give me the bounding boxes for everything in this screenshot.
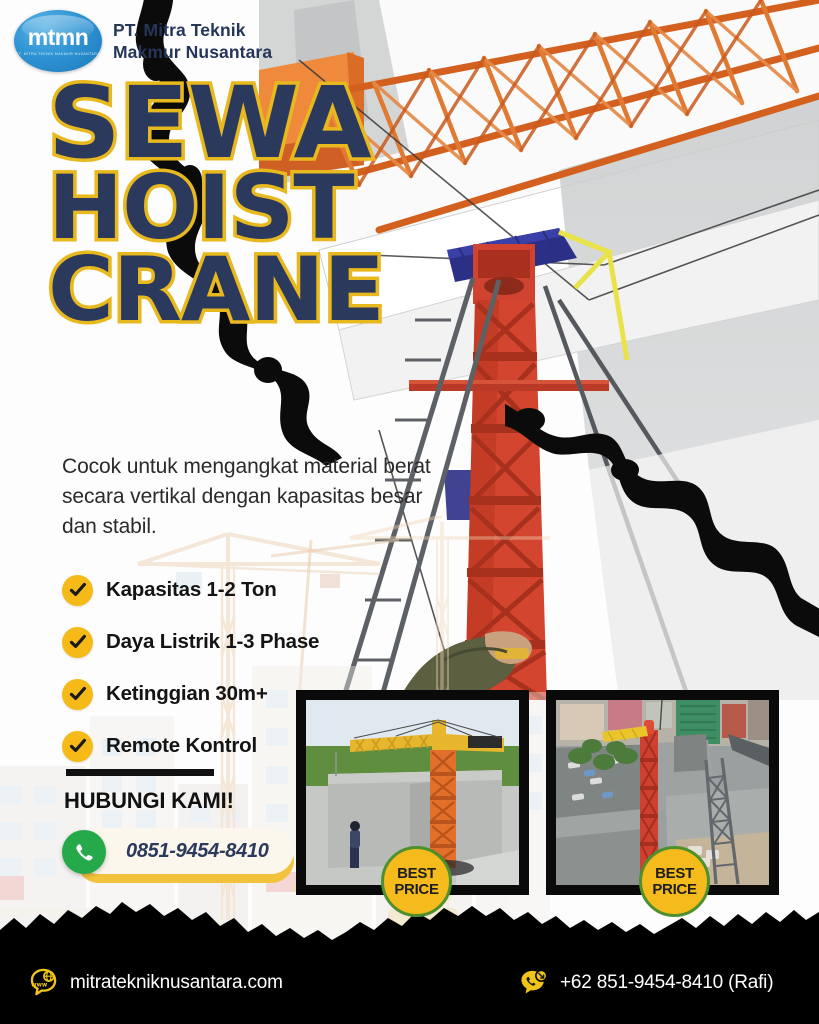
- title-line-3: CRANE: [48, 253, 384, 327]
- feature-label: Daya Listrik 1-3 Phase: [106, 630, 319, 654]
- cta-heading: HUBUNGI KAMI!: [64, 788, 234, 814]
- best-price-badge: BEST PRICE: [381, 846, 452, 917]
- footer-website[interactable]: www mitratekniknusantara.com: [30, 968, 283, 997]
- description-text: Cocok untuk mengangkat material berat se…: [62, 452, 432, 541]
- check-icon: [62, 575, 93, 606]
- check-icon: [62, 731, 93, 762]
- badge-line-1: BEST: [655, 866, 694, 881]
- badge-line-1: BEST: [397, 866, 436, 881]
- best-price-badge: BEST PRICE: [639, 846, 710, 917]
- logo-subtext: PT. MITRA TEKNIK MAKMUR NUSANTARA: [16, 52, 100, 56]
- feature-list: Kapasitas 1-2 Ton Daya Listrik 1-3 Phase…: [62, 568, 319, 776]
- footer-website-text: mitratekniknusantara.com: [70, 972, 283, 994]
- www-bubble-icon: www: [30, 968, 59, 997]
- divider-rule: [66, 769, 214, 776]
- poster-canvas: mtmn PT. MITRA TEKNIK MAKMUR NUSANTARA P…: [0, 0, 819, 1024]
- company-name-line2: Makmur Nusantara: [113, 41, 272, 63]
- feature-item: Daya Listrik 1-3 Phase: [62, 620, 319, 664]
- feature-label: Kapasitas 1-2 Ton: [106, 578, 277, 602]
- title-line-2: HOIST: [48, 171, 384, 245]
- footer-bar: www mitratekniknusantara.com +62 851-945…: [0, 946, 819, 1024]
- brand-header: mtmn PT. MITRA TEKNIK MAKMUR NUSANTARA P…: [14, 10, 272, 72]
- feature-label: Remote Kontrol: [106, 734, 257, 758]
- badge-line-2: PRICE: [652, 882, 696, 897]
- check-icon: [62, 627, 93, 658]
- feature-label: Ketinggian 30m+: [106, 682, 268, 706]
- phone-bubble-icon: [520, 968, 549, 997]
- badge-line-2: PRICE: [394, 882, 438, 897]
- company-logo: mtmn PT. MITRA TEKNIK MAKMUR NUSANTARA: [14, 10, 102, 72]
- feature-item: Ketinggian 30m+: [62, 672, 319, 716]
- check-icon: [62, 679, 93, 710]
- feature-item: Remote Kontrol: [62, 724, 319, 768]
- title-line-1: SEWA: [48, 82, 384, 165]
- company-name: PT. Mitra Teknik Makmur Nusantara: [113, 19, 272, 64]
- phone-number: 0851-9454-8410: [126, 840, 269, 863]
- phone-pill[interactable]: 0851-9454-8410: [76, 828, 294, 874]
- whatsapp-phone-icon[interactable]: [62, 830, 106, 874]
- feature-item: Kapasitas 1-2 Ton: [62, 568, 319, 612]
- poster-title: SEWA HOIST CRANE: [48, 82, 377, 327]
- footer-phone-text: +62 851-9454-8410 (Rafi): [560, 972, 773, 994]
- svg-text:www: www: [31, 982, 48, 988]
- footer-phone[interactable]: +62 851-9454-8410 (Rafi): [520, 968, 773, 997]
- company-name-line1: PT. Mitra Teknik: [113, 19, 272, 41]
- logo-wordmark: mtmn: [28, 26, 89, 49]
- whatsapp-contact-block[interactable]: 0851-9454-8410: [62, 828, 294, 874]
